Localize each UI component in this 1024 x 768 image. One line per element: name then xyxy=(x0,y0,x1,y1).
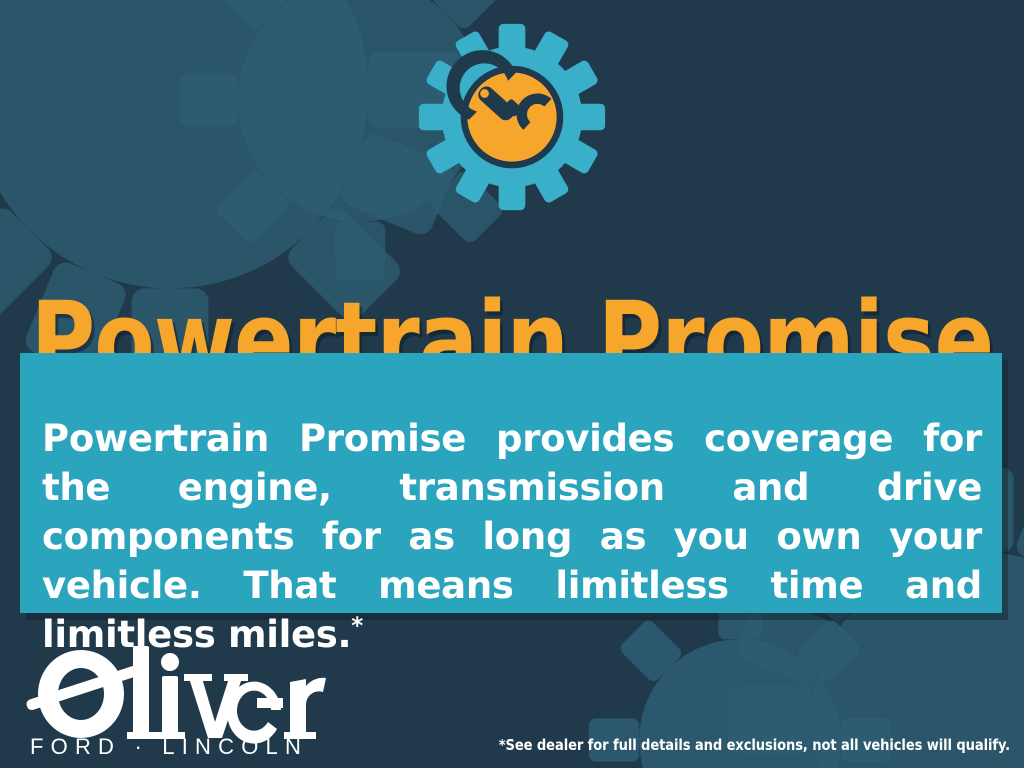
logo-wordmark-shape xyxy=(26,646,326,744)
gear-wrench-icon xyxy=(417,22,607,212)
promise-description-panel: Powertrain Promise provides coverage for… xyxy=(20,353,1002,613)
dealer-logo: FORD · LINCOLN xyxy=(26,636,326,758)
disclaimer-text: *See dealer for full details and exclusi… xyxy=(499,736,1010,754)
footnote-marker: * xyxy=(351,614,363,640)
promise-description-body: Powertrain Promise provides coverage for… xyxy=(42,417,982,656)
promise-description-text: Powertrain Promise provides coverage for… xyxy=(42,414,982,659)
logo-subtext: FORD · LINCOLN xyxy=(30,734,308,758)
promo-poster: Powertrain Promise Powertrain Promise pr… xyxy=(0,0,1024,768)
